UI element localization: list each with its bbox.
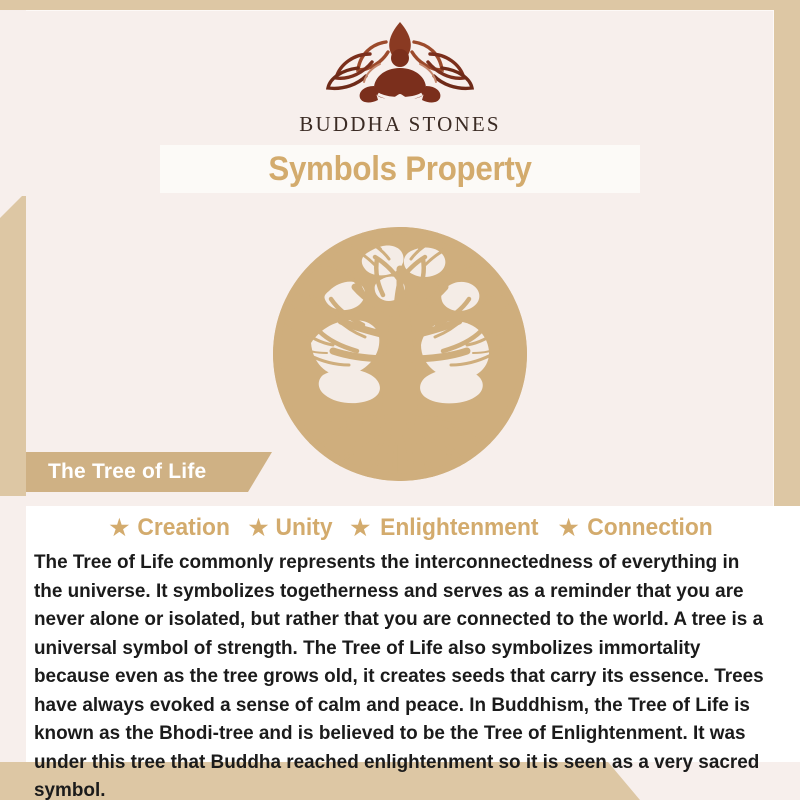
- lotus-meditating-figure-icon: [300, 14, 500, 110]
- keyword-label: Unity: [276, 514, 333, 542]
- keyword-item-unity: ★ Unity: [249, 514, 335, 542]
- tree-of-life-icon: [271, 225, 529, 483]
- star-icon: ★: [350, 517, 370, 539]
- keyword-item-creation: ★ Creation: [110, 514, 233, 542]
- star-icon: ★: [559, 517, 579, 539]
- section-title: The Tree of Life: [48, 460, 206, 484]
- brand-logo: BUDDHA STONES: [0, 14, 800, 137]
- star-icon: ★: [110, 517, 130, 539]
- brand-name: BUDDHA STONES: [299, 112, 501, 137]
- keyword-label: Enlightenment: [380, 514, 538, 542]
- keyword-item-connection: ★ Connection: [559, 514, 717, 542]
- symbols-property-card: BUDDHA STONES Symbols Property: [0, 0, 800, 800]
- content-panel: ★ Creation ★ Unity ★ Enlightenment ★ Con…: [26, 506, 800, 762]
- star-icon: ★: [249, 517, 269, 539]
- top-inner-hairline: [26, 10, 774, 11]
- left-border-band: [0, 196, 26, 496]
- keyword-label: Creation: [138, 514, 230, 542]
- page-title: Symbols Property: [32, 141, 768, 197]
- keyword-label: Connection: [588, 514, 713, 542]
- section-ribbon: The Tree of Life: [26, 452, 272, 492]
- keyword-list: ★ Creation ★ Unity ★ Enlightenment ★ Con…: [26, 506, 800, 542]
- description-text: The Tree of Life commonly represents the…: [34, 548, 769, 800]
- top-border-band: [0, 0, 800, 10]
- keyword-item-enlightenment: ★ Enlightenment: [350, 514, 542, 542]
